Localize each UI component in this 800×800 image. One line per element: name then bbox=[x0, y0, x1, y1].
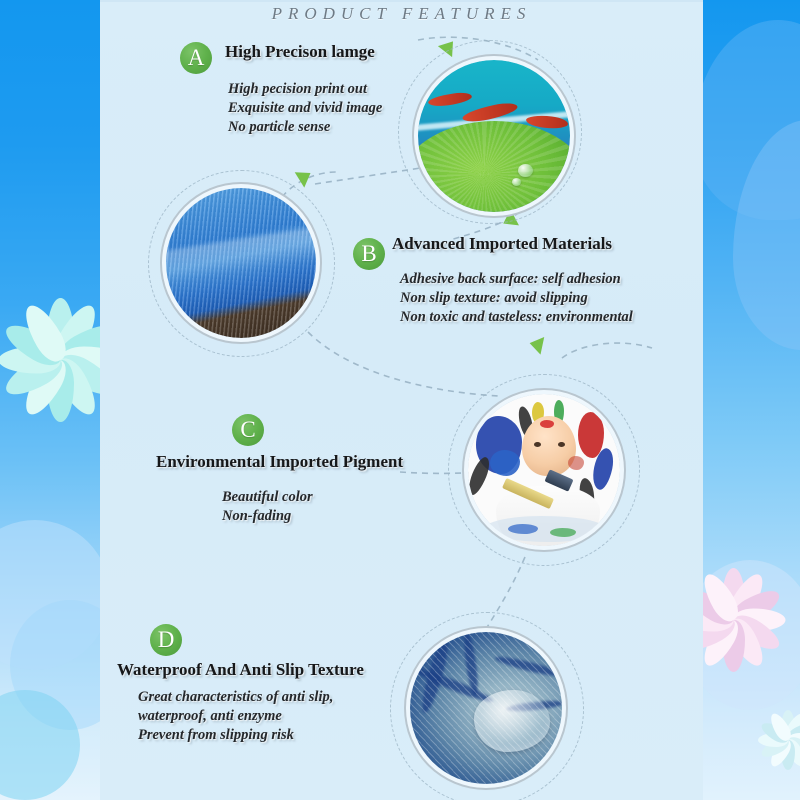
bullet-d-3: Prevent from slipping risk bbox=[138, 726, 333, 745]
heading-b: Advanced Imported Materials bbox=[392, 234, 612, 254]
bullet-b-1: Adhesive back surface: self adhesion bbox=[400, 270, 633, 289]
blue-fabric-texture-photo[interactable] bbox=[166, 188, 316, 338]
heading-a: High Precison lamge bbox=[225, 42, 375, 62]
bullet-d-1: Great characteristics of anti slip, bbox=[138, 688, 333, 707]
bullets-d: Great characteristics of anti slip, wate… bbox=[138, 688, 333, 745]
baby-with-paint-photo[interactable] bbox=[468, 394, 620, 546]
bullet-a-1: High pecision print out bbox=[228, 80, 382, 99]
main-panel: PRODUCT FEATURES bbox=[100, 0, 703, 800]
anti-slip-water-droplet-photo[interactable] bbox=[410, 632, 562, 784]
bullet-b-3: Non toxic and tasteless: environmental bbox=[400, 308, 633, 327]
bullets-b: Adhesive back surface: self adhesion Non… bbox=[400, 270, 633, 327]
badge-c: C bbox=[232, 414, 264, 446]
badge-d: D bbox=[150, 624, 182, 656]
bullet-a-2: Exquisite and vivid image bbox=[228, 99, 382, 118]
bullets-a: High pecision print out Exquisite and vi… bbox=[228, 80, 382, 137]
bullet-d-2: waterproof, anti enzyme bbox=[138, 707, 333, 726]
right-decorative-band bbox=[703, 0, 800, 800]
bullet-b-2: Non slip texture: avoid slipping bbox=[400, 289, 633, 308]
product-features-infographic: PRODUCT FEATURES bbox=[0, 0, 800, 800]
bullet-a-3: No particle sense bbox=[228, 118, 382, 137]
left-decorative-band bbox=[0, 0, 100, 800]
arrow-to-photo-b bbox=[295, 165, 316, 187]
bullet-c-2: Non-fading bbox=[222, 507, 313, 526]
koi-pond-lotus-leaf-photo[interactable] bbox=[418, 60, 570, 212]
page-title: PRODUCT FEATURES bbox=[100, 4, 703, 24]
heading-c: Environmental Imported Pigment bbox=[156, 452, 403, 472]
badge-a: A bbox=[180, 42, 212, 74]
badge-b: B bbox=[353, 238, 385, 270]
bullets-c: Beautiful color Non-fading bbox=[222, 488, 313, 526]
arrow-to-photo-c bbox=[528, 334, 544, 354]
bullet-c-1: Beautiful color bbox=[222, 488, 313, 507]
heading-d: Waterproof And Anti Slip Texture bbox=[117, 660, 364, 680]
